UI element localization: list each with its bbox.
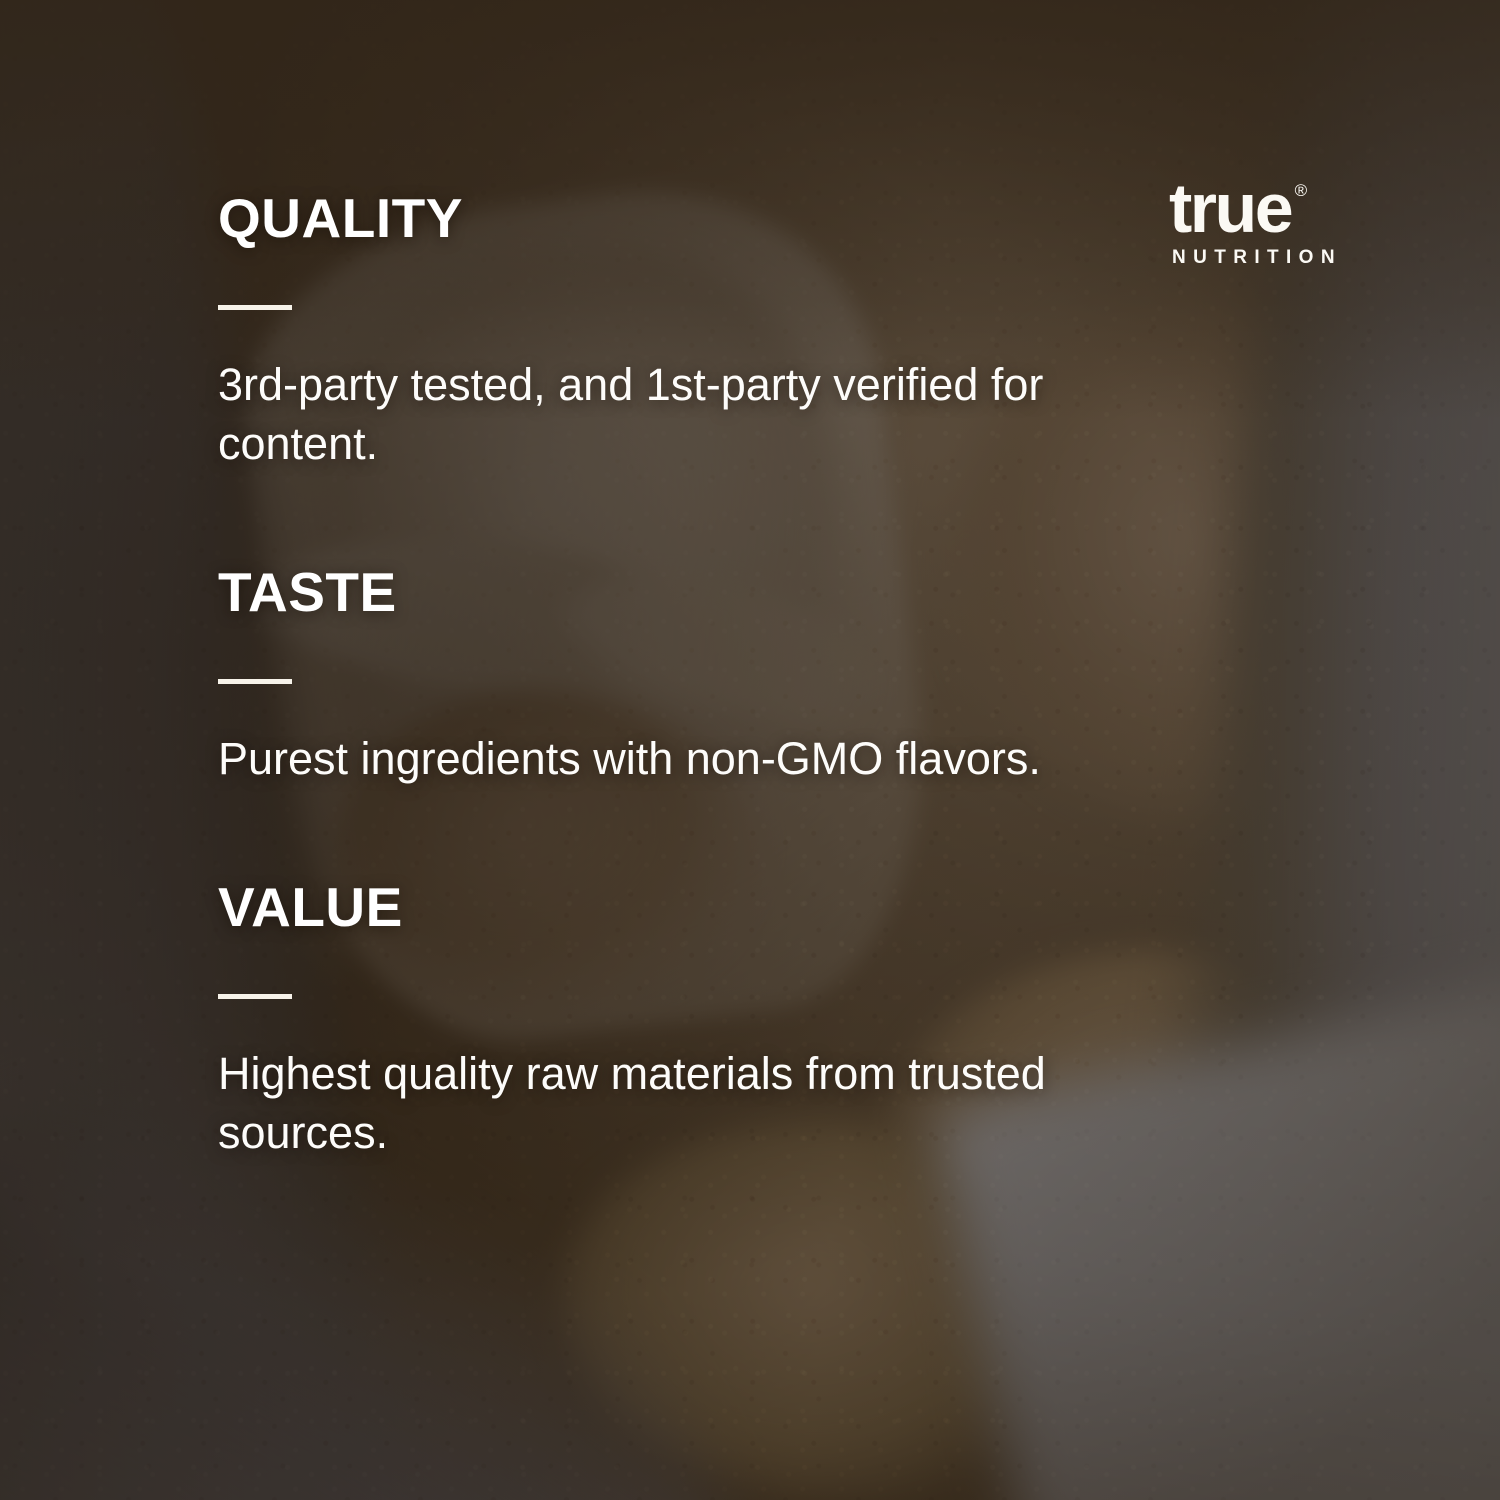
feature-list: QUALITY 3rd-party tested, and 1st-party … xyxy=(218,190,1278,1163)
feature-divider-rule xyxy=(218,305,292,310)
feature-title: VALUE xyxy=(218,879,1278,935)
feature-block-quality: QUALITY 3rd-party tested, and 1st-party … xyxy=(218,190,1278,474)
feature-block-value: VALUE Highest quality raw materials from… xyxy=(218,879,1278,1163)
feature-body: 3rd-party tested, and 1st-party verified… xyxy=(218,356,1198,474)
feature-divider-rule xyxy=(218,994,292,999)
product-feature-graphic: true ® NUTRITION QUALITY 3rd-party teste… xyxy=(0,0,1500,1500)
registered-trademark-icon: ® xyxy=(1295,182,1308,199)
feature-block-taste: TASTE Purest ingredients with non-GMO fl… xyxy=(218,564,1278,789)
feature-title: QUALITY xyxy=(218,190,1278,246)
feature-body: Purest ingredients with non-GMO flavors. xyxy=(218,730,1198,789)
content-layer: true ® NUTRITION QUALITY 3rd-party teste… xyxy=(0,0,1500,1500)
feature-title: TASTE xyxy=(218,564,1278,620)
feature-body: Highest quality raw materials from trust… xyxy=(218,1045,1198,1163)
feature-divider-rule xyxy=(218,679,292,684)
